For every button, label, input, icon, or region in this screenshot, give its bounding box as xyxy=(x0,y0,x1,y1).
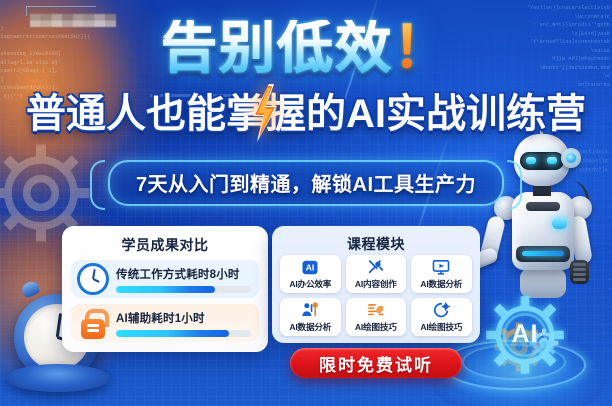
modules-card-title: 课程模块 xyxy=(272,226,480,254)
emblem-label: AI xyxy=(482,320,568,349)
headline-primary: 告别低效！ xyxy=(161,20,451,76)
microphone-pen-icon xyxy=(366,258,386,277)
svg-text:AI: AI xyxy=(306,263,315,273)
results-card-title: 学员成果对比 xyxy=(62,226,268,255)
headline-exclamation: ！ xyxy=(393,16,451,79)
tagline-wrap: 7天从入门到精通，解锁AI工具生产力 xyxy=(0,160,612,206)
cta-button[interactable]: 限时免费试听 xyxy=(290,348,462,378)
module-tile-data-1[interactable]: AI数据分析 xyxy=(411,255,472,293)
result-row-label: 传统工作方式耗时8小时 xyxy=(116,266,251,282)
module-tile-label: AI绘图技巧 xyxy=(420,321,462,333)
tagline-bracket-right xyxy=(507,160,522,210)
chat-gear-icon xyxy=(431,301,451,320)
module-tile-content[interactable]: AI内容创作 xyxy=(346,255,407,293)
clock-icon xyxy=(76,262,110,296)
results-card: 学员成果对比 传统工作方式耗时8小时 AI辅助耗时1小时 xyxy=(62,226,268,352)
ai-gear-emblem: AI xyxy=(482,292,568,378)
progress-bar-traditional xyxy=(116,286,251,293)
module-tile-label: AI绘图技巧 xyxy=(355,321,397,333)
module-tile-label: AI内容创作 xyxy=(355,278,397,290)
ai-badge-icon: AI xyxy=(300,258,320,277)
hud-line xyxy=(26,6,27,16)
result-row-traditional: 传统工作方式耗时8小时 xyxy=(71,260,259,298)
drawing-easel-icon xyxy=(366,301,386,320)
lightning-bolt-icon xyxy=(249,84,279,142)
result-row-label: AI辅助耗时1小时 xyxy=(116,310,251,326)
result-row-ai: AI辅助耗时1小时 xyxy=(71,304,259,342)
module-tile-label: AI数据分析 xyxy=(420,278,462,290)
monitor-play-icon xyxy=(431,258,451,277)
module-tile-data-2[interactable]: AI数据分析 xyxy=(280,298,341,336)
promo-poster: }| |) =aisgoaetrsttCoeris1560t5q)]}) (qa… xyxy=(0,0,612,406)
module-tile-office[interactable]: AI AI办公效率 xyxy=(280,255,341,293)
headline-primary-wrap: 告别低效！ xyxy=(0,20,612,76)
progress-bar-ai xyxy=(116,330,251,337)
hud-line xyxy=(26,6,96,7)
headline-secondary: 普通人也能掌握的AI实战训练营 xyxy=(26,94,586,134)
tagline-bracket-left xyxy=(90,160,105,210)
module-tile-drawing-1[interactable]: AI绘图技巧 xyxy=(346,298,407,336)
module-tile-label: AI数据分析 xyxy=(289,321,331,333)
lock-icon xyxy=(76,306,110,340)
module-tile-label: AI办公效率 xyxy=(289,278,331,290)
tagline: 7天从入门到精通，解锁AI工具生产力 xyxy=(108,160,504,206)
modules-card: 课程模块 AI AI办公效率 AI内容创作 xyxy=(272,226,480,343)
headline-primary-text: 告别低效 xyxy=(161,16,393,79)
person-chart-icon xyxy=(300,301,320,320)
headline-secondary-wrap: 普通人也能掌握的AI实战训练营 xyxy=(0,94,612,134)
module-tile-drawing-2[interactable]: AI绘图技巧 xyxy=(411,298,472,336)
